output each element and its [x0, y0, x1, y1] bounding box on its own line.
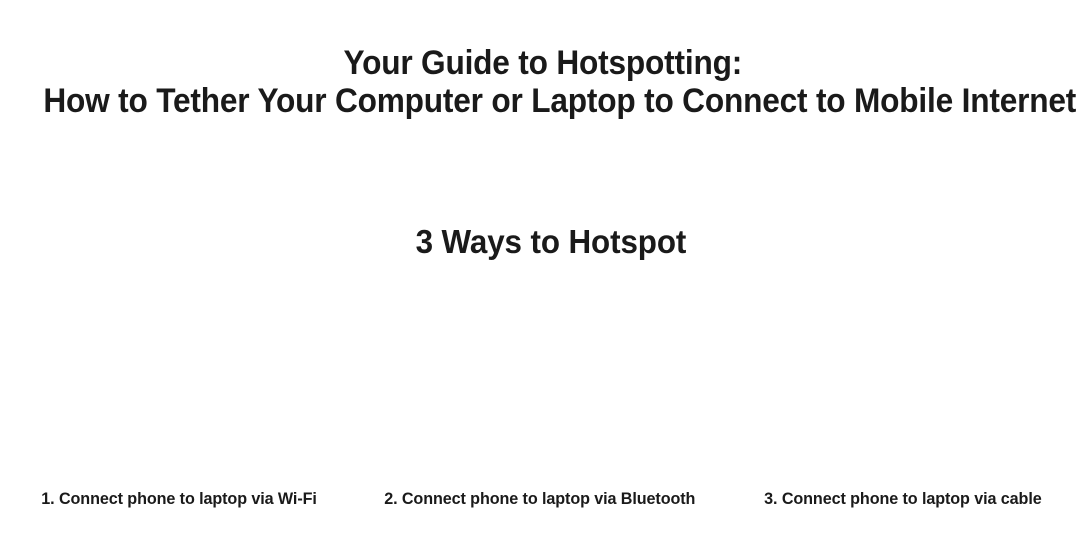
page-title-line-1: Your Guide to Hotspotting: [38, 44, 1042, 82]
method-illustration-bluetooth [360, 278, 720, 478]
method-caption-bluetooth-label: 2. Connect phone to laptop via Bluetooth [384, 488, 695, 509]
section-heading-label: 3 Ways to Hotspot [394, 222, 686, 262]
article-page: Your Guide to Hotspotting: How to Tether… [0, 0, 1080, 552]
section-heading: 3 Ways to Hotspot [0, 222, 1080, 262]
method-illustration-wifi [0, 278, 360, 478]
methods-caption-row: 1. Connect phone to laptop via Wi-Fi 2. … [0, 488, 1080, 509]
methods-illustration-row [0, 278, 1080, 478]
method-caption-wifi-label: 1. Connect phone to laptop via Wi-Fi [41, 488, 318, 509]
page-title-line-2: How to Tether Your Computer or Laptop to… [38, 82, 1042, 120]
method-illustration-cable [720, 278, 1080, 478]
method-caption-cable-label: 3. Connect phone to laptop via cable [758, 488, 1041, 509]
method-caption-wifi: 1. Connect phone to laptop via Wi-Fi [0, 488, 360, 509]
method-caption-bluetooth: 2. Connect phone to laptop via Bluetooth [360, 488, 720, 509]
page-title: Your Guide to Hotspotting: How to Tether… [0, 44, 1080, 120]
method-caption-cable: 3. Connect phone to laptop via cable [720, 488, 1080, 509]
